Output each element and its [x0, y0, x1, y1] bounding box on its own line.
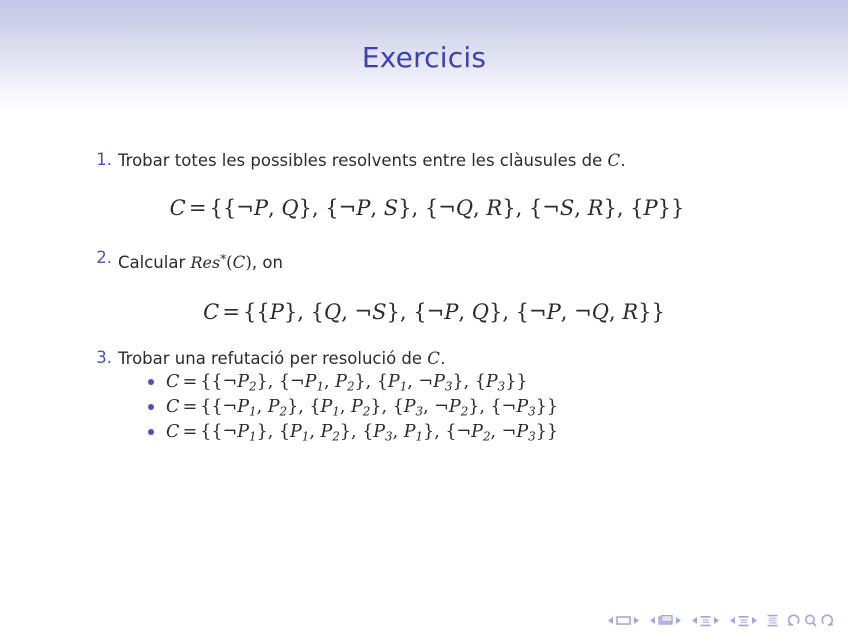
subequation-3: C={{¬P1}, {P1, P2}, {P3, P1}, {¬P2, ¬P3}…: [166, 420, 848, 449]
find-icon[interactable]: [804, 614, 817, 627]
bullet-icon: [148, 404, 154, 410]
back-icon[interactable]: [787, 614, 800, 627]
subsection-next-icon[interactable]: [713, 616, 720, 625]
exercise-text-3: Trobar una refutació per resolució de C.: [118, 348, 848, 370]
slide-body: 1. Trobar totes les possibles resolvents…: [0, 150, 848, 445]
exercise-3-subitems: C={{¬P2}, {¬P1, P2}, {P1, ¬P3}, {P3}} C=…: [0, 370, 848, 445]
beamer-navigation-symbols[interactable]: [607, 614, 834, 627]
section-next-icon[interactable]: [751, 616, 758, 625]
frame-title: Exercicis: [0, 44, 848, 72]
spacer: [0, 222, 848, 248]
section-previous-icon[interactable]: [729, 616, 736, 625]
exercise-item-3: 3. Trobar una refutació per resolució de…: [0, 348, 848, 370]
nav-group-presentation[interactable]: [767, 614, 778, 627]
bullet-icon: [148, 429, 154, 435]
frame-previous-icon[interactable]: [649, 616, 656, 625]
frame-icon[interactable]: [658, 615, 673, 626]
subitem-3: C={{¬P1}, {P1, P2}, {P3, P1}, {¬P2, ¬P3}…: [0, 420, 848, 445]
nav-group-section[interactable]: [729, 615, 758, 627]
bullet-icon: [148, 379, 154, 385]
exercise-item-1: 1. Trobar totes les possibles resolvents…: [0, 150, 848, 172]
subitem-1: C={{¬P2}, {¬P1, P2}, {P1, ¬P3}, {P3}}: [0, 370, 848, 395]
nav-group-hyperlinks[interactable]: [787, 614, 834, 627]
nav-group-frame[interactable]: [649, 615, 682, 626]
exercise-item-2: 2. Calcular Res*(C), on: [0, 248, 848, 274]
exercise-marker-2: 2.: [84, 248, 112, 267]
spacer: [0, 274, 848, 298]
nav-group-subsection[interactable]: [691, 615, 720, 627]
slide-next-icon[interactable]: [633, 616, 640, 625]
subsection-previous-icon[interactable]: [691, 616, 698, 625]
exercise-text-2: Calcular Res*(C), on: [118, 248, 848, 274]
equation-1: C={{¬P, Q}, {¬P, S}, {¬Q, R}, {¬S, R}, {…: [0, 194, 848, 222]
exercise-marker-1: 1.: [84, 150, 112, 169]
slide-previous-icon[interactable]: [607, 616, 614, 625]
section-icon[interactable]: [738, 615, 749, 627]
exercise-marker-3: 3.: [84, 348, 112, 367]
equation-2: C={{P}, {Q, ¬S}, {¬P, Q}, {¬P, ¬Q, R}}: [0, 298, 848, 326]
exercise-list: 1. Trobar totes les possibles resolvents…: [0, 150, 848, 445]
slide-icon[interactable]: [616, 615, 631, 626]
subitem-2: C={{¬P1, P2}, {P1, P2}, {P3, ¬P2}, {¬P3}…: [0, 395, 848, 420]
nav-group-slide[interactable]: [607, 615, 640, 626]
presentation-icon[interactable]: [767, 614, 778, 627]
exercise-text-1: Trobar totes les possibles resolvents en…: [118, 150, 848, 172]
subsection-icon[interactable]: [700, 615, 711, 627]
forward-icon[interactable]: [821, 614, 834, 627]
spacer: [0, 172, 848, 194]
frame-next-icon[interactable]: [675, 616, 682, 625]
spacer: [0, 326, 848, 348]
presentation-slide: Exercicis 1. Trobar totes les possibles …: [0, 0, 848, 635]
